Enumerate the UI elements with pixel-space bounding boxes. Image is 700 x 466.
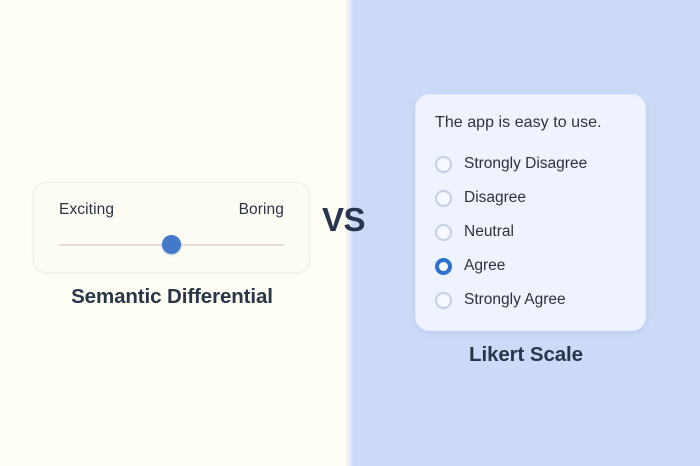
semantic-differential-card: Exciting Boring xyxy=(33,182,310,273)
radio-unselected-icon[interactable] xyxy=(435,292,452,309)
semantic-differential-caption: Semantic Differential xyxy=(0,285,344,309)
likert-option-label: Strongly Disagree xyxy=(464,155,587,173)
comparison-graphic: Exciting Boring Semantic Differential VS… xyxy=(0,0,700,466)
slider-thumb[interactable] xyxy=(162,235,181,254)
pole-label-right: Boring xyxy=(239,201,284,219)
radio-unselected-icon[interactable] xyxy=(435,190,452,207)
likert-option[interactable]: Strongly Disagree xyxy=(435,147,635,181)
likert-card: The app is easy to use. Strongly Disagre… xyxy=(415,94,646,331)
likert-option[interactable]: Agree xyxy=(435,249,635,283)
likert-option[interactable]: Strongly Agree xyxy=(435,283,635,317)
likert-option-list: Strongly DisagreeDisagreeNeutralAgreeStr… xyxy=(435,147,635,317)
likert-option-label: Disagree xyxy=(464,189,526,207)
versus-label: VS xyxy=(322,203,365,236)
semantic-differential-slider[interactable] xyxy=(59,235,284,255)
likert-caption: Likert Scale xyxy=(352,343,700,367)
likert-question: The app is easy to use. xyxy=(435,114,602,132)
likert-option-label: Agree xyxy=(464,257,505,275)
pole-label-left: Exciting xyxy=(59,201,114,219)
semantic-differential-poles: Exciting Boring xyxy=(59,201,284,219)
radio-unselected-icon[interactable] xyxy=(435,224,452,241)
radio-unselected-icon[interactable] xyxy=(435,156,452,173)
likert-option-label: Neutral xyxy=(464,223,514,241)
likert-option-label: Strongly Agree xyxy=(464,291,566,309)
likert-option[interactable]: Neutral xyxy=(435,215,635,249)
likert-option[interactable]: Disagree xyxy=(435,181,635,215)
radio-selected-icon[interactable] xyxy=(435,258,452,275)
